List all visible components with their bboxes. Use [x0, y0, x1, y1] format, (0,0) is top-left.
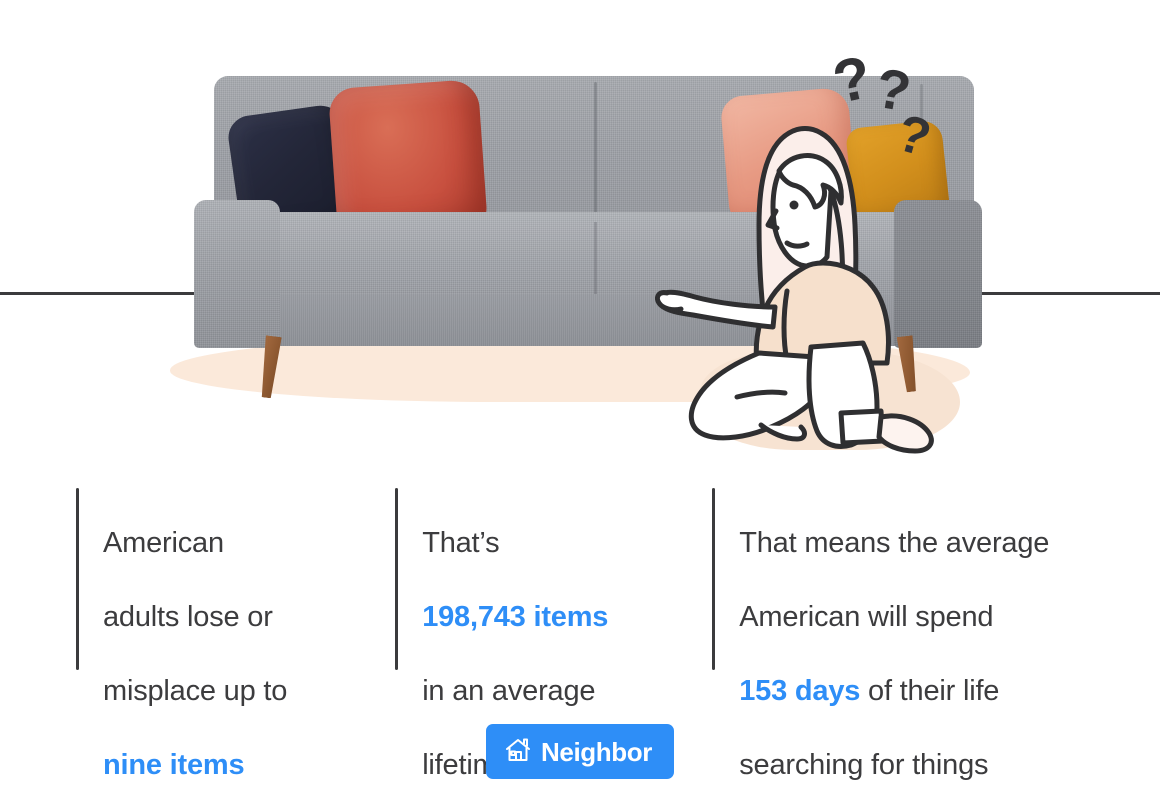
couch-backrest-seam-center	[594, 82, 597, 232]
logo-area: Neighbor	[0, 724, 1160, 779]
foot	[879, 416, 931, 451]
ankle-cuff	[841, 411, 883, 443]
house-icon	[504, 736, 532, 767]
toe	[761, 425, 804, 439]
stat-highlight: 153 days	[739, 675, 860, 707]
illustration-scene: ? ? ?	[0, 0, 1160, 470]
stat-line: American will spend	[739, 601, 993, 633]
stat-highlight: 198,743 items	[422, 601, 608, 633]
stat-line: adults lose or	[103, 601, 273, 633]
stat-line: in an average	[422, 675, 595, 707]
stat-line-suffix: of their life	[860, 675, 999, 707]
couch-arm-left	[194, 200, 280, 348]
kneeling-woman-illustration	[655, 95, 975, 455]
eye	[790, 201, 799, 210]
neighbor-logo-button[interactable]: Neighbor	[486, 724, 674, 779]
neighbor-wordmark: Neighbor	[541, 739, 652, 765]
infographic-root: ? ? ?	[0, 0, 1160, 807]
stat-line: American	[103, 527, 224, 559]
couch	[0, 0, 1160, 470]
stat-line: That means the average	[739, 527, 1049, 559]
stat-line: That’s	[422, 527, 499, 559]
stat-line: misplace up to	[103, 675, 287, 707]
